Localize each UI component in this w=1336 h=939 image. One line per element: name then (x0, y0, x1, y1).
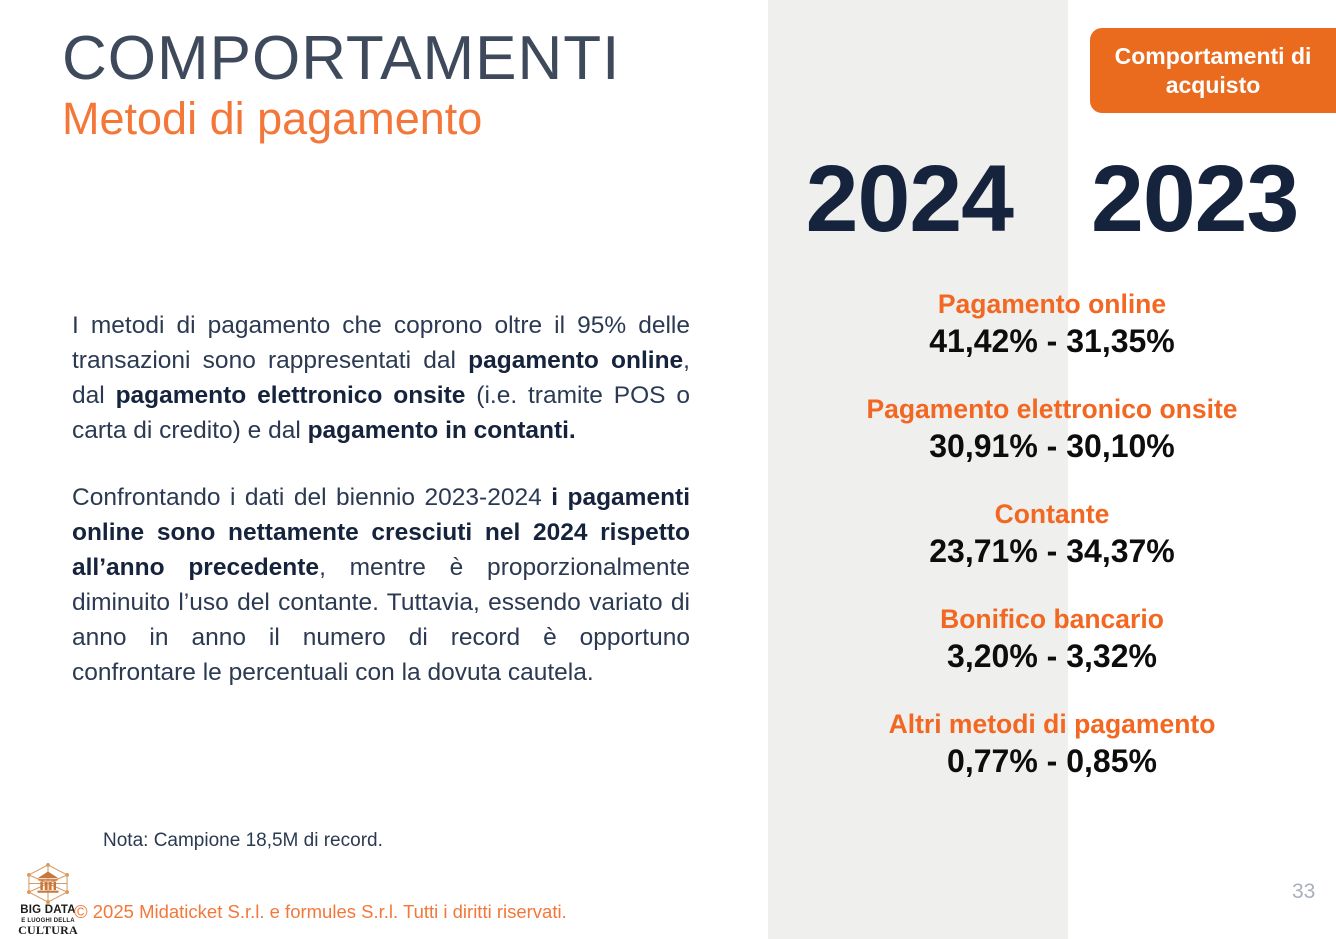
stat-values: 23,71% - 34,37% (768, 531, 1336, 571)
page-title: COMPORTAMENTI Metodi di pagamento (62, 26, 752, 145)
stat-row: Altri metodi di pagamento 0,77% - 0,85% (768, 708, 1336, 781)
year-2024: 2024 (806, 152, 1013, 247)
stat-label: Pagamento online (768, 288, 1336, 321)
title-subtitle: Metodi di pagamento (62, 93, 752, 145)
stat-values: 30,91% - 30,10% (768, 426, 1336, 466)
payment-method-stats: Pagamento online 41,42% - 31,35% Pagamen… (768, 288, 1336, 781)
logo-wordmark: BIG DATA E LUOGHI DELLA CULTURA (14, 905, 82, 936)
year-2023: 2023 (1091, 152, 1298, 247)
page-number: 33 (1292, 880, 1315, 904)
stat-values: 3,20% - 3,32% (768, 636, 1336, 676)
brand-logo: BIG DATA E LUOGHI DELLA CULTURA (14, 862, 82, 930)
logo-line-3: CULTURA (14, 924, 82, 936)
stat-row: Bonifico bancario 3,20% - 3,32% (768, 603, 1336, 676)
logo-line-1: BIG DATA (14, 905, 82, 917)
body-paragraph-2: Confrontando i dati del biennio 2023-202… (72, 480, 690, 690)
year-headers: 2024 2023 (768, 152, 1336, 247)
body-text: I metodi di pagamento che coprono oltre … (72, 308, 690, 690)
stat-row: Pagamento online 41,42% - 31,35% (768, 288, 1336, 361)
stat-values: 0,77% - 0,85% (768, 741, 1336, 781)
sample-note: Nota: Campione 18,5M di record. (103, 830, 383, 852)
body-paragraph-1: I metodi di pagamento che coprono oltre … (72, 308, 690, 448)
stat-label: Bonifico bancario (768, 603, 1336, 636)
stat-row: Contante 23,71% - 34,37% (768, 498, 1336, 571)
stat-label: Altri metodi di pagamento (768, 708, 1336, 741)
big-data-culture-logo-icon (20, 862, 76, 904)
copyright-notice: © 2025 Midaticket S.r.l. e formules S.r.… (74, 901, 567, 923)
stat-label: Contante (768, 498, 1336, 531)
stat-row: Pagamento elettronico onsite 30,91% - 30… (768, 393, 1336, 466)
left-content-column: COMPORTAMENTI Metodi di pagamento I meto… (0, 0, 768, 939)
stat-values: 41,42% - 31,35% (768, 321, 1336, 361)
stat-label: Pagamento elettronico onsite (768, 393, 1336, 426)
section-badge: Comportamenti di acquisto (1090, 28, 1336, 113)
title-main: COMPORTAMENTI (62, 26, 752, 91)
